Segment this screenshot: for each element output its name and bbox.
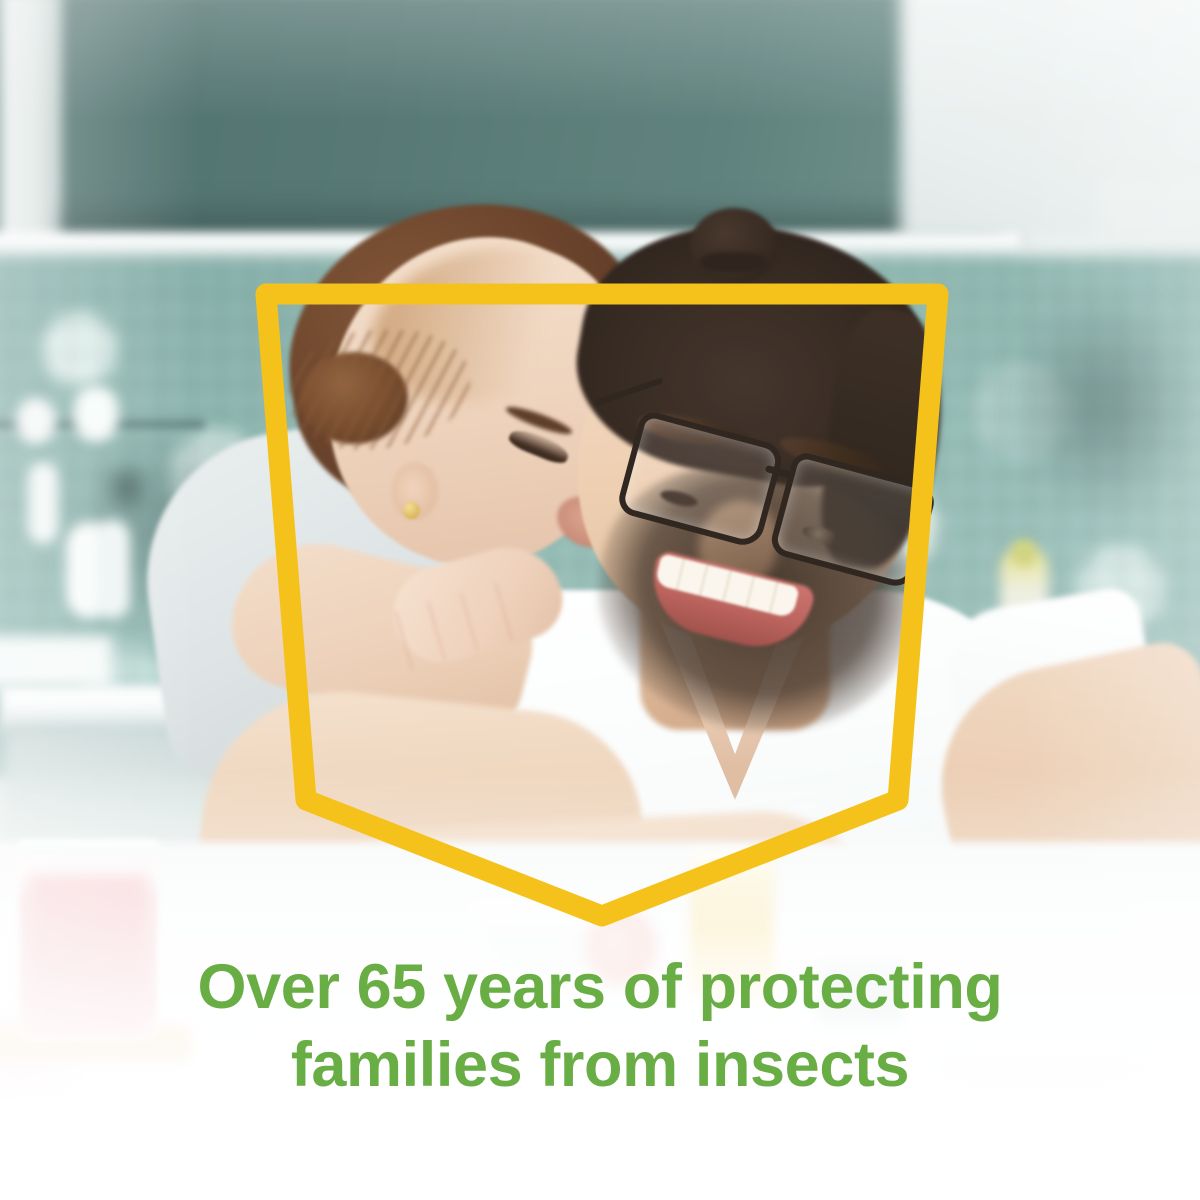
headline: Over 65 years of protecting families fro… [0,948,1200,1104]
ad-canvas: Over 65 years of protecting families fro… [0,0,1200,1200]
headline-line-1: Over 65 years of protecting [0,948,1200,1026]
headline-line-2: families from insects [0,1026,1200,1104]
